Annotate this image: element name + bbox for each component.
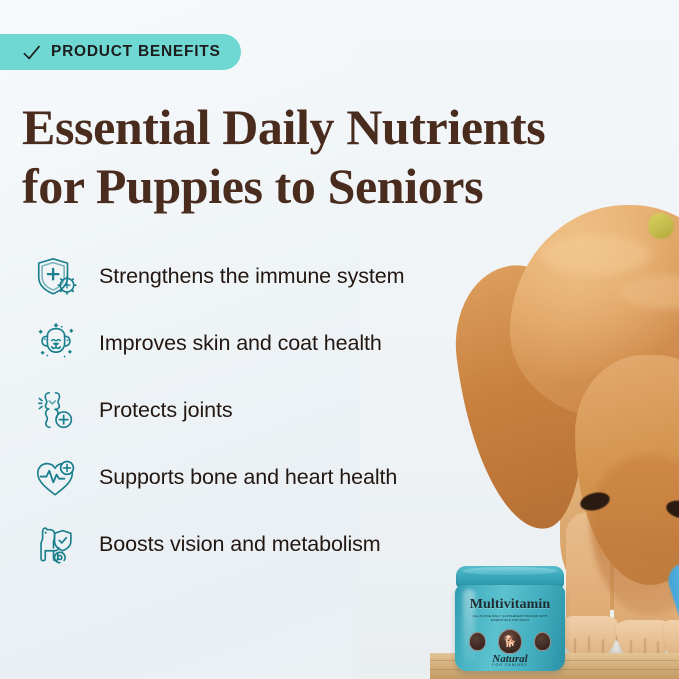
benefit-label: Strengthens the immune system [99, 264, 404, 289]
dog-paw [616, 620, 672, 662]
dog-snout [575, 355, 679, 585]
benefit-label: Improves skin and coat health [99, 331, 382, 356]
jar-subtitle: ALL-IN-ONE DAILY SUPPLEMENT PACKED WITH … [471, 614, 549, 622]
dog-leg [658, 516, 679, 644]
dog-ear-right [658, 273, 679, 537]
benefit-item-joints: Protects joints [30, 377, 500, 444]
dog-collar [664, 535, 679, 655]
benefit-item-immune: Strengthens the immune system [30, 243, 500, 310]
product-benefits-banner: Multivitamin ALL-IN-ONE DAILY SUPPLEMENT… [0, 0, 679, 679]
jar-tagline: FOR CANINES [455, 663, 565, 667]
jar-medallion-center: 🐕 [498, 629, 522, 654]
dog-leg [566, 512, 610, 642]
dog-eye-right [665, 498, 679, 521]
jar-body: Multivitamin ALL-IN-ONE DAILY SUPPLEMENT… [455, 585, 565, 671]
benefit-item-skin-coat: Improves skin and coat health [30, 310, 500, 377]
badge-label: PRODUCT BENEFITS [51, 43, 221, 61]
heart-pulse-plus-icon [30, 452, 82, 504]
jar-medallions: 🐕 [469, 629, 551, 654]
page-title: Essential Daily Nutrients for Puppies to… [22, 98, 670, 216]
joint-plus-icon [30, 385, 82, 437]
jar-product-name: Multivitamin [455, 597, 565, 613]
dog-eye-left [578, 490, 611, 514]
headline-line-1: Essential Daily Nutrients [22, 98, 670, 157]
dog-face-icon: 🐕 [469, 630, 551, 655]
benefit-item-vision-metabolism: Boosts vision and metabolism [30, 511, 500, 578]
product-jar: Multivitamin ALL-IN-ONE DAILY SUPPLEMENT… [455, 566, 565, 671]
benefits-list: Strengthens the immune system [30, 243, 500, 578]
dog-forehead [510, 205, 679, 420]
dog-leg [614, 502, 660, 644]
collar-tag [648, 213, 674, 239]
dog-face-sparkle-icon [30, 318, 82, 370]
dog-head [470, 205, 679, 625]
dog-muzzle-shading [590, 455, 679, 615]
product-benefits-badge: PRODUCT BENEFITS [0, 34, 241, 70]
dog-paw [664, 620, 679, 660]
headline-line-2: for Puppies to Seniors [22, 157, 670, 216]
check-icon [22, 43, 41, 62]
benefit-label: Boosts vision and metabolism [99, 532, 381, 557]
shield-plus-virus-icon [30, 251, 82, 303]
dog-body [560, 420, 679, 610]
dog-shield-check-icon [30, 519, 82, 571]
benefit-item-bone-heart: Supports bone and heart health [30, 444, 500, 511]
benefit-label: Supports bone and heart health [99, 465, 397, 490]
dog-paw [560, 616, 618, 660]
benefit-label: Protects joints [99, 398, 233, 423]
